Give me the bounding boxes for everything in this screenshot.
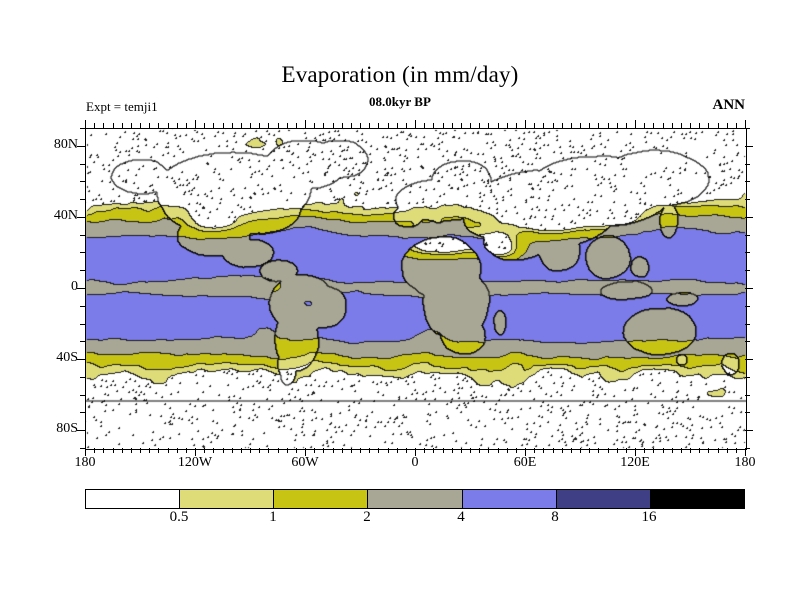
colorbar-label-16: 16: [627, 509, 671, 526]
x-minor-tick-top: [553, 123, 554, 128]
x-minor-tick: [727, 448, 728, 453]
x-minor-tick: [653, 448, 654, 453]
y-major-tick-right: [745, 359, 753, 360]
x-minor-tick: [94, 448, 95, 453]
x-minor-tick: [617, 448, 618, 453]
x-minor-tick-top: [103, 123, 104, 128]
x-minor-tick-top: [708, 123, 709, 128]
x-minor-tick: [149, 448, 150, 453]
x-minor-tick-top: [268, 123, 269, 128]
y-minor-tick-right: [745, 235, 750, 236]
x-minor-tick-top: [158, 123, 159, 128]
x-minor-tick-top: [534, 123, 535, 128]
y-minor-tick-right: [745, 199, 750, 200]
figure-root: Evaporation (in mm/day) 08.0kyr BP Expt …: [0, 0, 800, 600]
x-major-tick-top: [525, 120, 526, 128]
x-minor-tick: [507, 448, 508, 453]
x-minor-tick-top: [736, 123, 737, 128]
x-minor-tick: [433, 448, 434, 453]
y-tick-label-40S: 40S: [32, 350, 78, 366]
colorbar-label-1: 1: [251, 509, 295, 526]
x-minor-tick-top: [571, 123, 572, 128]
x-minor-tick-top: [360, 123, 361, 128]
x-minor-tick-top: [314, 123, 315, 128]
x-minor-tick: [103, 448, 104, 453]
x-minor-tick: [424, 448, 425, 453]
colorbar-band-2: [273, 490, 367, 508]
colorbar-band-1: [179, 490, 273, 508]
x-minor-tick: [351, 448, 352, 453]
x-minor-tick: [113, 448, 114, 453]
x-minor-tick: [589, 448, 590, 453]
map-plot-area: [85, 128, 747, 450]
x-tick-label-120W: 120W: [165, 455, 225, 471]
season-label: ANN: [713, 97, 746, 114]
x-minor-tick: [186, 448, 187, 453]
y-tick-label-40N: 40N: [32, 208, 78, 224]
x-minor-tick-top: [681, 123, 682, 128]
x-minor-tick-top: [131, 123, 132, 128]
y-minor-tick-right: [745, 412, 750, 413]
x-minor-tick: [663, 448, 664, 453]
colorbar-band-5: [556, 490, 650, 508]
x-minor-tick-top: [461, 123, 462, 128]
x-major-tick-top: [745, 120, 746, 128]
y-minor-tick-right: [745, 448, 750, 449]
chart-title: Evaporation (in mm/day): [0, 62, 800, 88]
x-minor-tick: [461, 448, 462, 453]
x-minor-tick: [608, 448, 609, 453]
x-minor-tick-top: [663, 123, 664, 128]
experiment-label: Expt = temji1: [86, 99, 158, 115]
x-tick-label-120E: 120E: [605, 455, 665, 471]
x-minor-tick-top: [140, 123, 141, 128]
x-minor-tick: [479, 448, 480, 453]
y-major-tick: [77, 359, 85, 360]
x-minor-tick-top: [608, 123, 609, 128]
y-minor-tick-right: [745, 252, 750, 253]
x-minor-tick: [690, 448, 691, 453]
y-minor-tick-right: [745, 181, 750, 182]
x-minor-tick-top: [516, 123, 517, 128]
x-minor-tick: [681, 448, 682, 453]
x-minor-tick: [168, 448, 169, 453]
x-minor-tick: [378, 448, 379, 453]
y-minor-tick-right: [745, 164, 750, 165]
x-minor-tick: [708, 448, 709, 453]
x-minor-tick-top: [653, 123, 654, 128]
x-minor-tick-top: [333, 123, 334, 128]
x-minor-tick-top: [562, 123, 563, 128]
x-minor-tick: [131, 448, 132, 453]
y-tick-label-80N: 80N: [32, 137, 78, 153]
x-minor-tick: [268, 448, 269, 453]
x-minor-tick: [296, 448, 297, 453]
x-minor-tick: [406, 448, 407, 453]
x-major-tick-top: [85, 120, 86, 128]
y-minor-tick-right: [745, 324, 750, 325]
colorbar-label-2: 2: [345, 509, 389, 526]
x-minor-tick: [158, 448, 159, 453]
y-minor-tick-right: [745, 270, 750, 271]
x-minor-tick-top: [498, 123, 499, 128]
x-minor-tick: [278, 448, 279, 453]
x-minor-tick-top: [259, 123, 260, 128]
x-minor-tick-top: [672, 123, 673, 128]
x-minor-tick-top: [250, 123, 251, 128]
y-major-tick: [77, 430, 85, 431]
x-minor-tick-top: [727, 123, 728, 128]
colorbar-label-4: 4: [439, 509, 483, 526]
x-minor-tick: [626, 448, 627, 453]
y-minor-tick: [80, 341, 85, 342]
y-minor-tick: [80, 306, 85, 307]
x-minor-tick: [736, 448, 737, 453]
x-minor-tick: [323, 448, 324, 453]
x-minor-tick-top: [186, 123, 187, 128]
x-minor-tick: [140, 448, 141, 453]
x-minor-tick-top: [177, 123, 178, 128]
x-minor-tick-top: [168, 123, 169, 128]
y-minor-tick-right: [745, 341, 750, 342]
y-minor-tick: [80, 395, 85, 396]
y-minor-tick: [80, 199, 85, 200]
x-major-tick-top: [635, 120, 636, 128]
colorbar: [85, 489, 745, 509]
y-minor-tick: [80, 252, 85, 253]
y-major-tick-right: [745, 430, 753, 431]
x-minor-tick-top: [406, 123, 407, 128]
x-minor-tick: [534, 448, 535, 453]
x-minor-tick: [562, 448, 563, 453]
x-minor-tick-top: [241, 123, 242, 128]
colorbar-label-8: 8: [533, 509, 577, 526]
x-minor-tick: [598, 448, 599, 453]
x-minor-tick: [177, 448, 178, 453]
colorbar-band-0: [86, 490, 179, 508]
x-minor-tick-top: [644, 123, 645, 128]
x-minor-tick-top: [424, 123, 425, 128]
x-minor-tick-top: [433, 123, 434, 128]
y-minor-tick: [80, 448, 85, 449]
x-minor-tick-top: [718, 123, 719, 128]
x-minor-tick-top: [223, 123, 224, 128]
y-minor-tick: [80, 235, 85, 236]
x-minor-tick-top: [443, 123, 444, 128]
colorbar-label-0.5: 0.5: [157, 509, 201, 526]
y-minor-tick-right: [745, 395, 750, 396]
x-minor-tick: [699, 448, 700, 453]
x-minor-tick: [718, 448, 719, 453]
x-minor-tick-top: [617, 123, 618, 128]
x-minor-tick: [232, 448, 233, 453]
y-major-tick: [77, 146, 85, 147]
x-tick-label-60E: 60E: [495, 455, 555, 471]
x-minor-tick: [388, 448, 389, 453]
y-minor-tick-right: [745, 377, 750, 378]
x-minor-tick: [470, 448, 471, 453]
x-minor-tick: [543, 448, 544, 453]
x-minor-tick: [516, 448, 517, 453]
x-minor-tick-top: [113, 123, 114, 128]
x-tick-label-180: 180: [55, 455, 115, 471]
x-minor-tick-top: [213, 123, 214, 128]
x-minor-tick-top: [598, 123, 599, 128]
x-major-tick-top: [195, 120, 196, 128]
y-minor-tick-right: [745, 128, 750, 129]
x-minor-tick: [580, 448, 581, 453]
y-minor-tick: [80, 128, 85, 129]
y-major-tick-right: [745, 217, 753, 218]
x-minor-tick-top: [507, 123, 508, 128]
x-minor-tick-top: [479, 123, 480, 128]
x-minor-tick-top: [580, 123, 581, 128]
x-minor-tick-top: [149, 123, 150, 128]
x-minor-tick-top: [342, 123, 343, 128]
x-tick-label-0: 0: [385, 455, 445, 471]
x-tick-label-180: 180: [715, 455, 775, 471]
x-minor-tick: [360, 448, 361, 453]
y-minor-tick: [80, 324, 85, 325]
x-minor-tick-top: [369, 123, 370, 128]
x-minor-tick-top: [278, 123, 279, 128]
x-minor-tick: [498, 448, 499, 453]
x-minor-tick-top: [94, 123, 95, 128]
x-minor-tick-top: [589, 123, 590, 128]
x-minor-tick: [644, 448, 645, 453]
x-minor-tick-top: [470, 123, 471, 128]
colorbar-band-3: [367, 490, 461, 508]
x-minor-tick: [259, 448, 260, 453]
x-minor-tick-top: [378, 123, 379, 128]
x-minor-tick-top: [452, 123, 453, 128]
x-major-tick-top: [415, 120, 416, 128]
x-minor-tick: [250, 448, 251, 453]
y-tick-label-0: 0: [32, 279, 78, 295]
x-minor-tick: [122, 448, 123, 453]
x-minor-tick-top: [122, 123, 123, 128]
colorbar-band-4: [462, 490, 556, 508]
y-major-tick-right: [745, 288, 753, 289]
x-minor-tick-top: [323, 123, 324, 128]
x-minor-tick-top: [204, 123, 205, 128]
x-minor-tick-top: [690, 123, 691, 128]
y-minor-tick: [80, 181, 85, 182]
x-minor-tick: [223, 448, 224, 453]
x-minor-tick-top: [388, 123, 389, 128]
x-minor-tick: [333, 448, 334, 453]
x-minor-tick-top: [397, 123, 398, 128]
y-minor-tick: [80, 377, 85, 378]
x-minor-tick: [571, 448, 572, 453]
x-minor-tick-top: [232, 123, 233, 128]
x-tick-label-60W: 60W: [275, 455, 335, 471]
x-minor-tick-top: [543, 123, 544, 128]
x-minor-tick: [213, 448, 214, 453]
x-minor-tick-top: [351, 123, 352, 128]
y-major-tick: [77, 217, 85, 218]
evaporation-map-canvas: [86, 129, 746, 449]
y-minor-tick: [80, 412, 85, 413]
x-minor-tick: [342, 448, 343, 453]
x-minor-tick: [241, 448, 242, 453]
x-minor-tick-top: [296, 123, 297, 128]
x-minor-tick-top: [488, 123, 489, 128]
x-minor-tick-top: [287, 123, 288, 128]
y-major-tick: [77, 288, 85, 289]
x-minor-tick: [672, 448, 673, 453]
x-minor-tick: [443, 448, 444, 453]
x-major-tick-top: [305, 120, 306, 128]
y-minor-tick: [80, 270, 85, 271]
x-minor-tick: [553, 448, 554, 453]
y-minor-tick-right: [745, 306, 750, 307]
y-major-tick-right: [745, 146, 753, 147]
x-minor-tick: [488, 448, 489, 453]
x-minor-tick: [204, 448, 205, 453]
colorbar-band-6: [650, 490, 744, 508]
x-minor-tick: [287, 448, 288, 453]
x-minor-tick: [314, 448, 315, 453]
x-minor-tick-top: [626, 123, 627, 128]
x-minor-tick-top: [699, 123, 700, 128]
x-minor-tick: [397, 448, 398, 453]
y-tick-label-80S: 80S: [32, 421, 78, 437]
x-minor-tick: [452, 448, 453, 453]
x-minor-tick: [369, 448, 370, 453]
y-minor-tick: [80, 164, 85, 165]
